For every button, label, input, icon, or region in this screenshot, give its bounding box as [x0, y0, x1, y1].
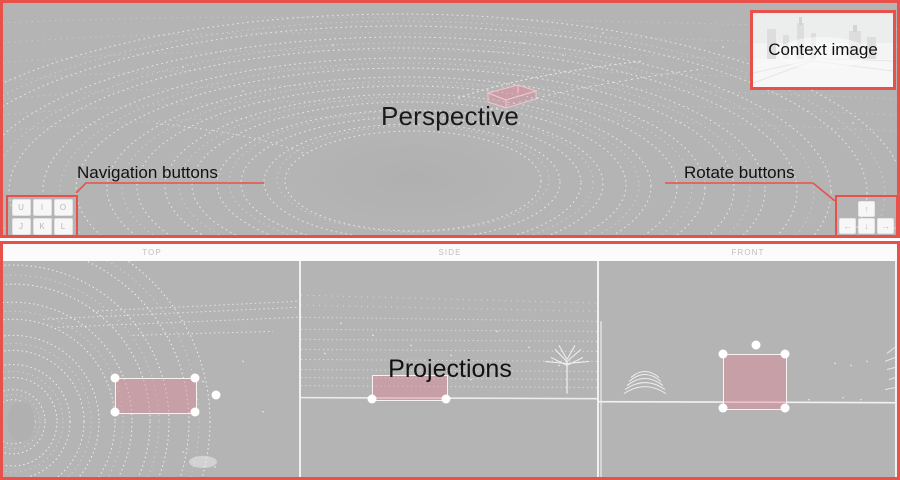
navigation-key-row-top: U I O [12, 199, 73, 216]
context-image-label: Context image [753, 40, 893, 60]
navigation-key-row-bottom: J K L [12, 218, 73, 235]
front-handle-bottom-left[interactable] [719, 403, 728, 412]
nav-key-o[interactable]: O [54, 199, 73, 216]
arrow-left-icon[interactable]: ← [839, 218, 856, 234]
side-handle-bottom-left[interactable] [368, 395, 377, 404]
front-handle-top-right[interactable] [781, 349, 790, 358]
front-handle-top-center[interactable] [751, 341, 760, 350]
projections-panel[interactable]: TOP SIDE FRONT [0, 241, 900, 480]
rotate-annotation-label: Rotate buttons [684, 163, 795, 183]
top-view-bounding-box[interactable] [115, 378, 197, 415]
side-view-bounding-box[interactable] [372, 375, 448, 401]
nav-key-u[interactable]: U [12, 199, 31, 216]
context-image-panel[interactable]: Context image [750, 10, 896, 90]
nav-key-j[interactable]: J [12, 218, 31, 235]
nav-key-k[interactable]: K [33, 218, 52, 235]
arrow-up-icon[interactable]: ↑ [858, 201, 875, 217]
navigation-annotation-label: Navigation buttons [77, 163, 218, 183]
side-handle-bottom-right[interactable] [442, 395, 451, 404]
front-handle-top-left[interactable] [719, 349, 728, 358]
rotate-key-row-bottom: ← ↓ → [839, 218, 894, 234]
top-view-point-cloud [3, 261, 299, 477]
projections-body: Projections [3, 261, 897, 477]
nav-key-i[interactable]: I [33, 199, 52, 216]
projections-header: TOP SIDE FRONT [3, 244, 897, 261]
front-handle-bottom-right[interactable] [781, 403, 790, 412]
top-handle-bottom-left[interactable] [111, 408, 120, 417]
top-handle-top-right[interactable] [191, 373, 200, 382]
side-view-point-cloud [301, 261, 597, 477]
perspective-view-panel[interactable]: Perspective [0, 0, 900, 238]
projection-view-side[interactable] [301, 261, 599, 477]
rotate-buttons-group[interactable]: ↑ ← ↓ → [835, 195, 898, 238]
arrow-down-icon[interactable]: ↓ [858, 218, 875, 234]
projection-title-top: TOP [3, 244, 301, 261]
projection-title-side: SIDE [301, 244, 599, 261]
top-handle-bottom-right[interactable] [191, 408, 200, 417]
front-view-bounding-box[interactable] [723, 354, 787, 410]
projection-title-front: FRONT [599, 244, 897, 261]
top-handle-top-left[interactable] [111, 373, 120, 382]
top-handle-heading[interactable] [212, 390, 221, 399]
navigation-buttons-group[interactable]: U I O J K L [6, 195, 78, 238]
arrow-right-icon[interactable]: → [877, 218, 894, 234]
projection-view-front[interactable] [599, 261, 897, 477]
perspective-annotation-label: Perspective [3, 101, 897, 132]
rotate-key-row-top: ↑ [858, 201, 875, 217]
nav-key-l[interactable]: L [54, 218, 73, 235]
projection-view-top[interactable] [3, 261, 301, 477]
lidar-annotation-tool: Perspective [0, 0, 900, 480]
